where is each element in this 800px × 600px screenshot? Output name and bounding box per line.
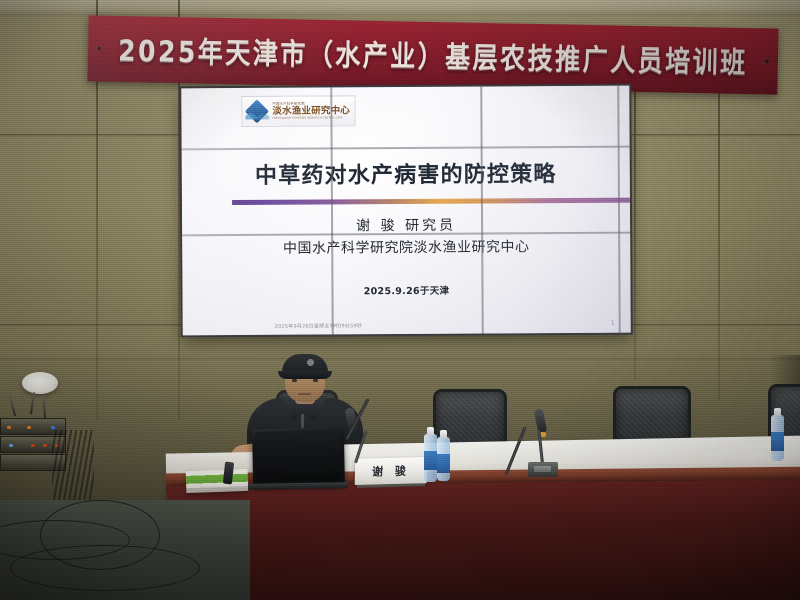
floor-cable xyxy=(40,500,160,570)
ceiling-strip xyxy=(0,0,800,16)
organization-logo: 中国水产科学研究院 淡水渔业研究中心 FRESHWATER FISHERIES … xyxy=(242,96,354,126)
panel-seam-vertical xyxy=(617,86,620,333)
water-bottle[interactable] xyxy=(424,434,437,482)
water-bottle[interactable] xyxy=(437,437,450,481)
mic-gooseneck xyxy=(354,430,367,463)
slide-divider-rule xyxy=(232,198,631,205)
diamond-wave-logo-icon xyxy=(245,100,269,122)
status-led xyxy=(43,444,47,447)
status-led xyxy=(7,426,11,429)
bottle-label xyxy=(437,454,450,473)
slide-date-location: 2025.9.26于天津 xyxy=(182,282,630,299)
laptop-screen xyxy=(255,430,342,482)
bottle-label xyxy=(424,451,437,470)
person-eye xyxy=(313,379,318,382)
status-led xyxy=(51,426,55,429)
person-eye xyxy=(292,379,297,382)
banner-grommet xyxy=(96,46,102,52)
banner-title-text: 2025年天津市（水产业）基层农技推广人员培训班 xyxy=(118,28,748,82)
panel-seam-horizontal xyxy=(182,146,630,150)
slide-title: 中草药对水产病害的防控策略 xyxy=(182,156,630,191)
status-led xyxy=(27,426,31,429)
bottle-cap xyxy=(774,408,781,416)
laptop[interactable] xyxy=(252,427,345,487)
logo-org-name: 淡水渔业研究中心 xyxy=(272,106,350,116)
logo-org-subtitle: FRESHWATER FISHERIES RESEARCH CENTER, CA… xyxy=(272,117,350,120)
presentation-slide: 中国水产科学研究院 淡水渔业研究中心 FRESHWATER FISHERIES … xyxy=(181,86,631,336)
bottle-cap xyxy=(427,427,434,435)
video-wall-display[interactable]: 中国水产科学研究院 淡水渔业研究中心 FRESHWATER FISHERIES … xyxy=(181,86,631,336)
slide-affiliation: 中国水产科学研究院淡水渔业研究中心 xyxy=(182,236,630,259)
bottle-label xyxy=(771,432,784,451)
conference-room-photo: 2025年天津市（水产业）基层农技推广人员培训班 中国水产科学研究院 淡水渔业研… xyxy=(0,0,800,600)
panel-seam-vertical xyxy=(480,87,483,334)
mic-base[interactable] xyxy=(528,462,558,477)
desk-body xyxy=(167,480,800,600)
wall-plank-seam xyxy=(634,80,636,380)
slide-footer-timestamp: 2025年9月26日星期五9时09分59秒 xyxy=(275,322,362,330)
cap-logo-icon xyxy=(307,359,314,366)
ceiling-speaker xyxy=(22,372,58,394)
slide-page-number: 1 xyxy=(611,320,615,327)
wall-plank-seam xyxy=(718,60,720,400)
wall-panel-seam xyxy=(0,358,800,361)
bottle-cap xyxy=(440,430,447,438)
document-stack[interactable] xyxy=(186,469,249,493)
conference-microphone[interactable] xyxy=(528,405,560,477)
water-bottle[interactable] xyxy=(771,415,784,461)
banner-grommet xyxy=(764,58,770,64)
person-mouth xyxy=(298,393,311,395)
event-banner: 2025年天津市（水产业）基层农技推广人员培训班 xyxy=(87,15,778,94)
mic-capsule xyxy=(534,408,548,433)
cap-brim xyxy=(278,371,332,379)
status-led xyxy=(31,444,35,447)
nameplate-text: 谢 骏 xyxy=(372,462,410,480)
status-led xyxy=(9,444,13,447)
